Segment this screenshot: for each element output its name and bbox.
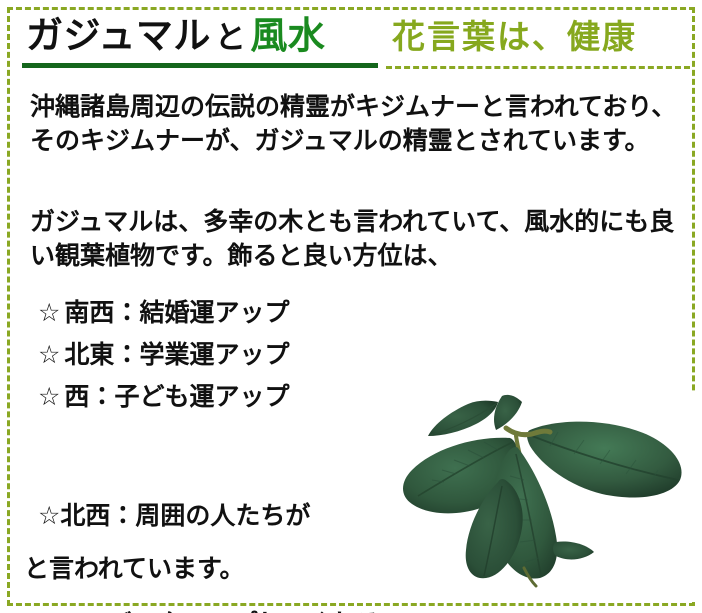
direction-separator: ： xyxy=(114,298,139,327)
direction-northwest-line-1: ☆北西：周囲の人たちが xyxy=(38,498,458,534)
gajumaru-leaves-photo xyxy=(398,392,698,602)
closing-text: と言われています。 xyxy=(24,556,245,581)
star-icon: ☆ xyxy=(38,382,60,411)
direction-separator: ： xyxy=(114,340,139,369)
paragraph-kijimuna-legend: 沖縄諸島周辺の伝説の精霊がキジムナーと言われており、そのキジムナーが、ガジュマル… xyxy=(30,90,686,158)
header: ガジュマルと風水 花言葉は、健康 xyxy=(0,0,702,80)
title-part-gajumaru: ガジュマル xyxy=(26,14,211,57)
direction-label: 北東 xyxy=(64,340,114,369)
list-item: ☆北東：学業運アップ xyxy=(38,342,458,367)
direction-label: 南西 xyxy=(64,298,114,327)
direction-label: 西 xyxy=(64,382,89,411)
star-icon: ☆ xyxy=(38,340,60,369)
infographic-page: ガジュマルと風水 花言葉は、健康 沖縄諸島周辺の伝説の精霊がキジムナーと言われて… xyxy=(0,0,702,613)
direction-northwest-line-2: バックアップしてくれる xyxy=(38,606,458,613)
direction-benefit: 子ども運アップ xyxy=(114,382,289,411)
leaf-illustration xyxy=(398,392,698,602)
list-item: ☆北西：周囲の人たちが バックアップしてくれる 「後援運」アップ xyxy=(38,426,458,613)
direction-benefit: 結婚運アップ xyxy=(139,298,289,327)
subtitle-dashed-underline xyxy=(386,66,690,69)
direction-benefit: 学業運アップ xyxy=(139,340,289,369)
subtitle-flower-language: 花言葉は、健康 xyxy=(392,20,637,53)
page-title: ガジュマルと風水 xyxy=(26,17,325,54)
direction-separator: ： xyxy=(89,382,114,411)
title-part-and: と xyxy=(211,20,251,56)
title-part-fengshui: 風水 xyxy=(250,14,325,57)
star-icon: ☆ xyxy=(38,298,60,327)
list-item: ☆西：子ども運アップ xyxy=(38,384,458,409)
paragraph-tako-no-ki: ガジュマルは、多幸の木とも言われていて、風水的にも良い観葉植物です。飾ると良い方… xyxy=(30,205,686,273)
list-item: ☆南西：結婚運アップ xyxy=(38,300,458,325)
title-underline xyxy=(22,63,378,68)
